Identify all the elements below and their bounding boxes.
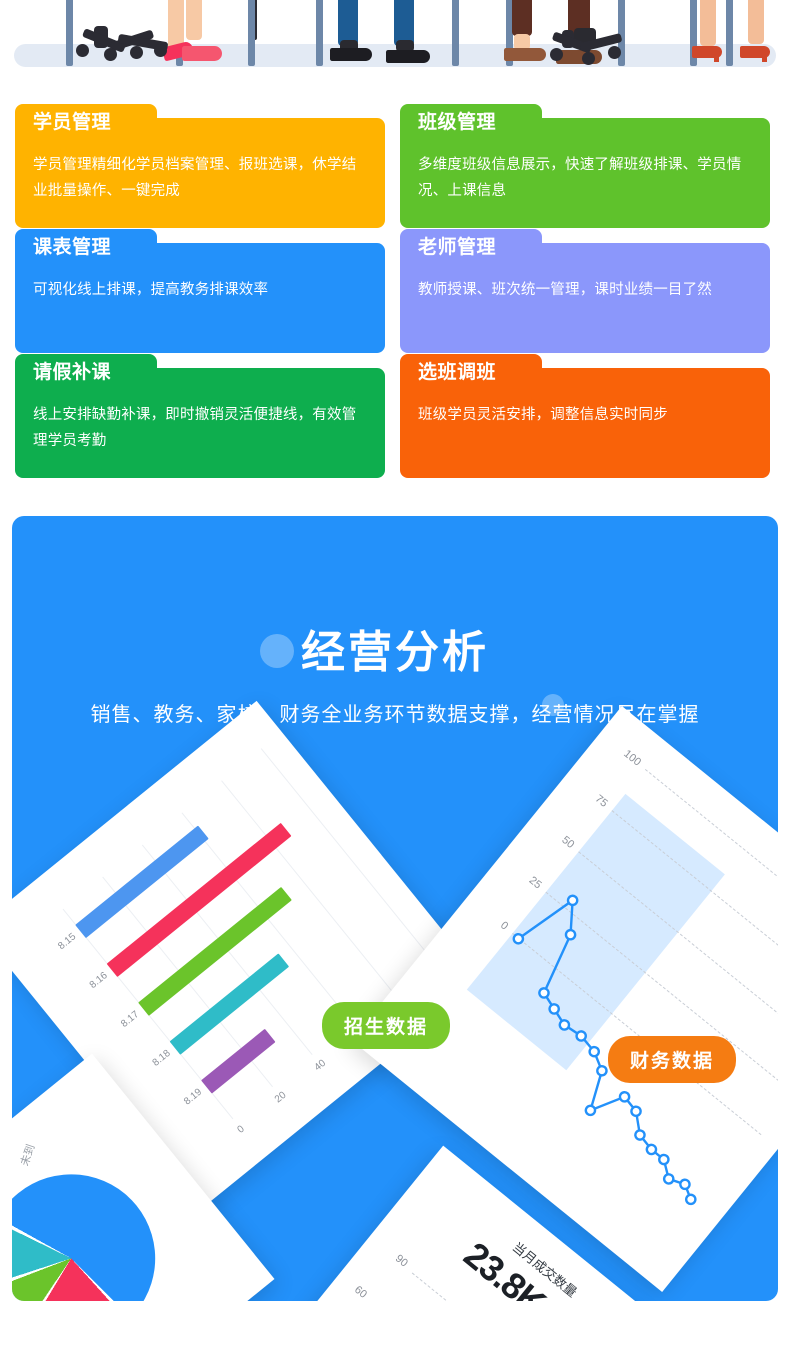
pill-enrollment-data[interactable]: 招生数据 (322, 1002, 450, 1049)
pill-finance-data[interactable]: 财务数据 (608, 1036, 736, 1083)
feature-cards: 学员管理 学员管理精细化学员档案管理、报班选课，休学结业批量操作、一键完成 班级… (0, 100, 790, 478)
desk-pole (452, 0, 459, 66)
axis-tick-label: 8.19 (182, 1087, 204, 1108)
hero-illustration (0, 0, 790, 100)
feature-card-title: 选班调班 (418, 362, 496, 384)
feature-card-title: 学员管理 (33, 112, 111, 134)
axis-tick-label: 8.18 (151, 1048, 173, 1069)
feature-card-title: 老师管理 (418, 237, 496, 259)
feature-card-title: 课表管理 (33, 237, 111, 259)
person-leg (512, 0, 532, 36)
analysis-title: 经营分析 (12, 616, 778, 680)
feature-card-title: 班级管理 (418, 112, 496, 134)
chair-base (78, 26, 174, 58)
feature-card-desc: 学员管理精细化学员档案管理、报班选课，休学结业批量操作、一键完成 (33, 152, 367, 204)
axis-tick-label: 75 (593, 793, 610, 810)
shoe (714, 52, 719, 62)
axis-tick-label: 50 (560, 834, 577, 851)
shoe (762, 52, 767, 62)
shoe (182, 46, 222, 61)
axis-tick-label: 60 (352, 1284, 369, 1301)
axis-tick-label: 8.16 (88, 970, 110, 991)
axis-tick-label: 0 (498, 920, 510, 933)
analysis-subtitle: 销售、教务、家校、财务全业务环节数据支撑，经营情况尽在掌握 (12, 698, 778, 727)
person-leg (700, 0, 716, 46)
enrollment-bar-chart: 8.15 8.16 8.17 8.18 8.19 0 20 40 60 80 1… (63, 749, 431, 1119)
feature-card-class-transfer[interactable]: 选班调班 班级学员灵活安排，调整信息实时同步 (400, 368, 770, 478)
finance-series-line (438, 769, 778, 1227)
feature-card-teacher-management[interactable]: 老师管理 教师授课、班次统一管理，课时业绩一目了然 (400, 243, 770, 353)
feature-card-desc: 班级学员灵活安排，调整信息实时同步 (418, 402, 752, 428)
desk-pole (66, 0, 73, 66)
attendance-pie-chart (12, 1140, 189, 1301)
shoe (386, 50, 430, 63)
axis-tick-label: 90 (393, 1252, 410, 1269)
person-leg (748, 0, 764, 44)
feature-row-1: 学员管理 学员管理精细化学员档案管理、报班选课，休学结业批量操作、一键完成 班级… (15, 118, 775, 228)
feature-card-title: 请假补课 (33, 362, 111, 384)
feature-card-desc: 线上安排缺勤补课，即时撤销灵活便捷线，有效管理学员考勤 (33, 402, 367, 454)
finance-line-chart: 100 75 50 25 0 (438, 769, 778, 1227)
axis-tick-label: 0 (235, 1124, 246, 1136)
feature-card-desc: 可视化线上排课，提高教务排课效率 (33, 277, 367, 303)
desk-pole (726, 0, 733, 66)
feature-card-desc: 多维度班级信息展示，快速了解班级排课、学员情况、上课信息 (418, 152, 752, 204)
desk-pole (248, 0, 255, 66)
axis-tick-label: 20 (273, 1090, 289, 1106)
person-leg (186, 0, 202, 40)
feature-row-3: 请假补课 线上安排缺勤补课，即时撤销灵活便捷线，有效管理学员考勤 选班调班 班级… (15, 368, 775, 478)
feature-card-student-management[interactable]: 学员管理 学员管理精细化学员档案管理、报班选课，休学结业批量操作、一键完成 (15, 118, 385, 228)
axis-tick-label: 8.17 (119, 1009, 141, 1030)
axis-tick-label: 40 (313, 1058, 329, 1074)
feature-row-2: 课表管理 可视化线上排课，提高教务排课效率 老师管理 教师授课、班次统一管理，课… (15, 243, 775, 353)
analysis-section: 经营分析 销售、教务、家校、财务全业务环节数据支撑，经营情况尽在掌握 8.15 … (12, 516, 778, 1301)
feature-card-leave-makeup[interactable]: 请假补课 线上安排缺勤补课，即时撤销灵活便捷线，有效管理学员考勤 (15, 368, 385, 478)
chair-base (532, 30, 628, 62)
shoe (330, 48, 372, 61)
axis-tick-label: 25 (526, 875, 543, 892)
page-root: 学员管理 学员管理精细化学员档案管理、报班选课，休学结业批量操作、一键完成 班级… (0, 0, 790, 1351)
feature-card-desc: 教师授课、班次统一管理，课时业绩一目了然 (418, 277, 752, 303)
feature-card-schedule-management[interactable]: 课表管理 可视化线上排课，提高教务排课效率 (15, 243, 385, 353)
feature-card-class-management[interactable]: 班级管理 多维度班级信息展示，快速了解班级排课、学员情况、上课信息 (400, 118, 770, 228)
axis-tick-label: 100 (621, 748, 643, 769)
axis-tick-label: 8.15 (56, 931, 78, 952)
desk-pole (316, 0, 323, 66)
pie-label-absent: 未到 (16, 1142, 38, 1168)
